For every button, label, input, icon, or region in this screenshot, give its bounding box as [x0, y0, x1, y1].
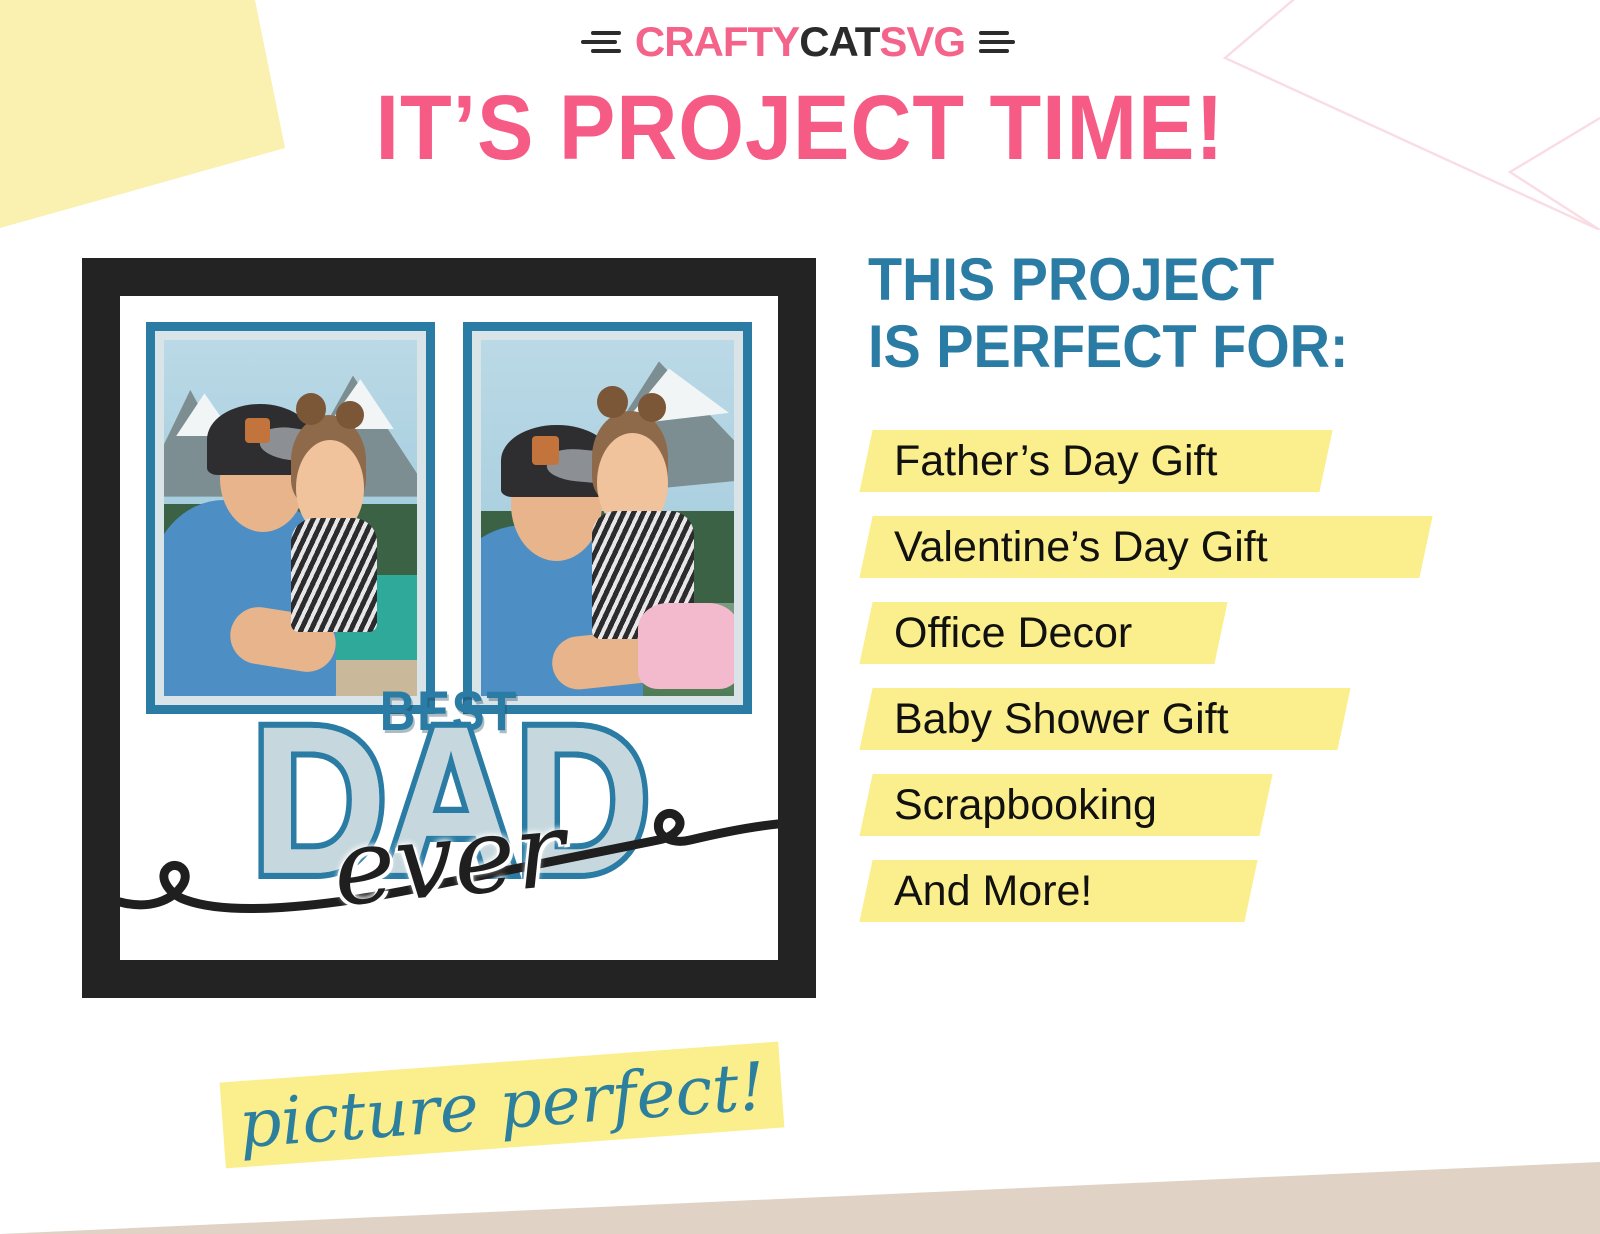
- page-title: IT’S PROJECT TIME!: [64, 82, 1536, 174]
- use-case-list: Father’s Day Gift Valentine’s Day Gift O…: [868, 430, 1528, 922]
- project-photo-frame: BEST DAD DAD ever: [82, 258, 816, 998]
- logo-cat-text: CAT: [799, 18, 879, 65]
- photo-mat-right: [463, 322, 752, 714]
- logo-svg-text: SVG: [879, 18, 965, 65]
- photo-row: [146, 322, 752, 714]
- logo-left-marks-icon: [581, 31, 621, 53]
- logo-crafty-text: CRAFTY: [635, 18, 799, 65]
- list-item: Office Decor: [868, 602, 1528, 664]
- section-heading-line1: THIS PROJECT: [868, 246, 1482, 313]
- perfect-for-panel: THIS PROJECT IS PERFECT FOR: Father’s Da…: [868, 246, 1528, 922]
- list-item: Valentine’s Day Gift: [868, 516, 1528, 578]
- use-case-label: Valentine’s Day Gift: [868, 523, 1268, 572]
- best-dad-ever-title-art: BEST DAD DAD ever: [120, 678, 778, 926]
- list-item: And More!: [868, 860, 1528, 922]
- frame-white-mat: BEST DAD DAD ever: [120, 296, 778, 960]
- logo-wordmark: CRAFTYCATSVG: [635, 18, 965, 66]
- photo-dad-kissing-daughter: [164, 340, 417, 696]
- list-item: Baby Shower Gift: [868, 688, 1528, 750]
- logo-right-marks-icon: [979, 31, 1019, 53]
- use-case-label: Office Decor: [868, 609, 1132, 658]
- photo-dad-laughing-with-daughter: [481, 340, 734, 696]
- section-heading-line2: IS PERFECT FOR:: [868, 313, 1482, 380]
- photo-inner-mat-right: [472, 331, 743, 705]
- photo-mat-left: [146, 322, 435, 714]
- use-case-label: Scrapbooking: [868, 781, 1157, 830]
- list-item: Scrapbooking: [868, 774, 1528, 836]
- picture-perfect-text: picture perfect!: [220, 1042, 785, 1169]
- use-case-label: Baby Shower Gift: [868, 695, 1229, 744]
- use-case-label: Father’s Day Gift: [868, 437, 1217, 486]
- use-case-label: And More!: [868, 867, 1092, 916]
- photo-inner-mat-left: [155, 331, 426, 705]
- brand-logo: CRAFTYCATSVG: [0, 18, 1600, 66]
- section-heading: THIS PROJECT IS PERFECT FOR:: [868, 246, 1482, 380]
- list-item: Father’s Day Gift: [868, 430, 1528, 492]
- picture-perfect-badge: picture perfect!: [222, 1062, 782, 1148]
